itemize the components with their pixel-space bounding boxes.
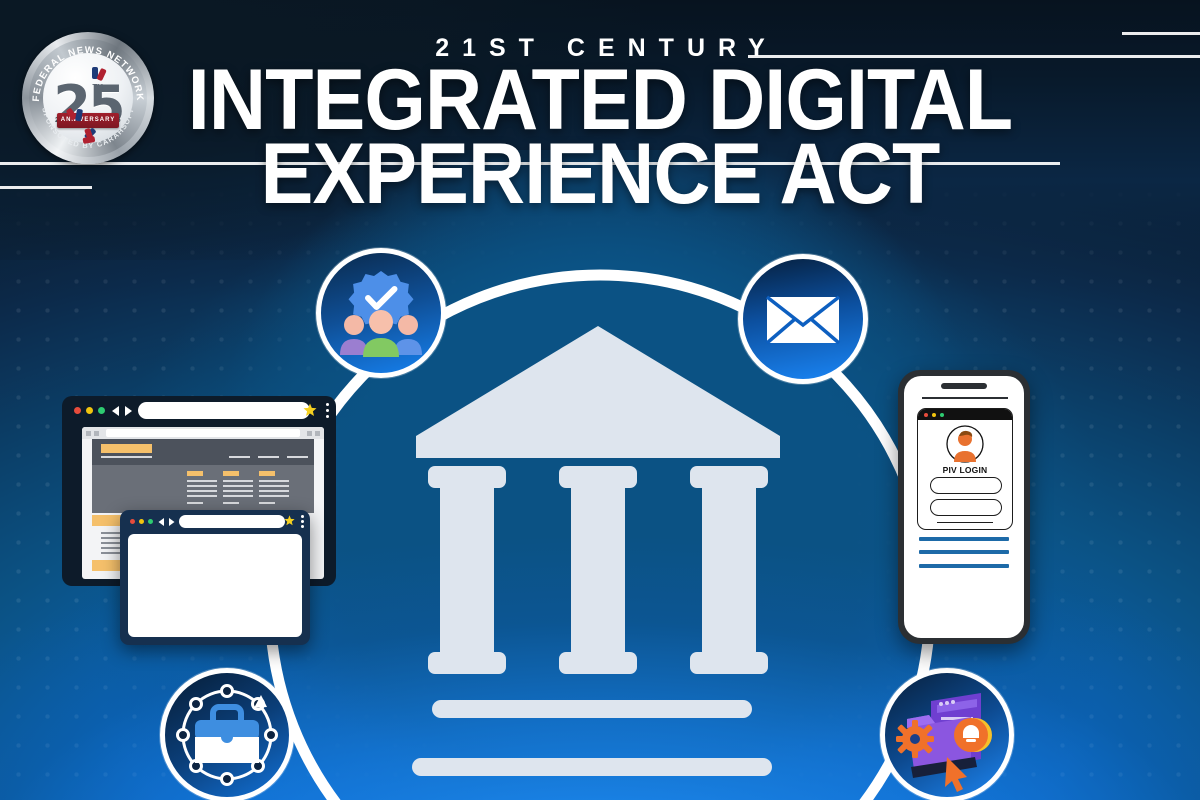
kebab-menu-icon [326,415,329,418]
page-column-heading [223,471,239,476]
badge-dashboard [880,668,1014,800]
page-title: INTEGRATED DIGITAL EXPERIENCE ACT [0,64,1200,212]
star-icon[interactable] [303,403,317,417]
building-base-bar-1 [432,700,752,718]
government-building-icon [408,318,788,768]
page-tagline [101,456,152,458]
page-hero-band [92,465,314,513]
window-close-dot[interactable] [74,407,81,414]
user-avatar-icon [946,425,984,463]
page-text-line [259,485,289,487]
card-maximize-dot[interactable] [940,413,944,417]
page-text-line [259,490,289,492]
page-toolbar-dot [307,431,312,436]
mobile-piv-login-mockup[interactable]: PIV LOGIN [898,370,1030,644]
phone-content-line-2 [919,550,1009,554]
page-text-line [187,490,217,492]
page-text-line [223,495,253,497]
window-close-dot[interactable] [130,519,135,524]
column-shaft-1 [440,480,494,660]
page-text-line [187,480,217,482]
page-text-line [223,502,239,504]
url-bar[interactable] [179,515,285,528]
badge-email [738,254,868,384]
page-nav-item [258,456,279,458]
promo-graphic-canvas: FEDERAL NEWS NETWORK SPONSORED BY CARAHS… [0,0,1200,800]
badge-workforce [160,668,294,800]
kebab-menu-icon [326,409,329,412]
title-line-2: EXPERIENCE ACT [48,138,1152,212]
window-maximize-dot[interactable] [98,407,105,414]
back-arrow-icon[interactable] [157,517,176,527]
page-text-line [187,485,217,487]
star-icon[interactable] [284,515,295,526]
page-toolbar-dot [86,431,91,436]
window-minimize-dot[interactable] [139,519,144,524]
briefcase-network-icon [178,686,277,785]
page-nav-item [287,456,308,458]
page-text-line [223,490,253,492]
secondary-window-viewport [128,534,302,637]
phone-screen: PIV LOGIN [904,376,1024,638]
column-base-3 [690,652,768,674]
verified-users-icon [340,271,422,357]
column-base-2 [559,652,637,674]
phone-content-line-3 [919,564,1009,568]
kebab-menu-icon[interactable] [326,403,329,406]
window-minimize-dot[interactable] [86,407,93,414]
kebab-menu-icon[interactable] [301,515,304,518]
phone-content-line-1 [919,537,1009,541]
page-toolbar-dot [94,431,99,436]
badge-verified-users [316,248,446,378]
phone-divider [922,397,1008,399]
page-text-line [187,495,217,497]
page-text-line [187,502,203,504]
page-text-line [223,480,253,482]
kebab-menu-icon [301,525,304,528]
page-text-line [259,495,289,497]
page-column-heading [187,471,203,476]
window-maximize-dot[interactable] [148,519,153,524]
column-shaft-2 [571,480,625,660]
piv-helper-line-1 [937,522,993,523]
card-close-dot[interactable] [924,413,928,417]
phone-speaker-notch [941,383,987,389]
back-arrow-icon[interactable] [110,405,134,417]
piv-login-label: PIV LOGIN [918,465,1012,475]
building-base-bar-2 [412,758,772,776]
envelope-icon [767,297,839,343]
page-column-heading [259,471,275,476]
card-minimize-dot[interactable] [932,413,936,417]
page-text-line [259,480,289,482]
page-text-line [223,485,253,487]
column-base-1 [428,652,506,674]
piv-field-1[interactable] [930,477,1002,494]
page-logo-block [101,444,152,453]
page-nav-item [229,456,250,458]
kebab-menu-icon [301,520,304,523]
column-shaft-3 [702,480,756,660]
page-url-field [106,429,300,437]
page-text-line [259,502,275,504]
page-toolbar-dot [315,431,320,436]
url-bar[interactable] [138,402,310,419]
piv-field-2[interactable] [930,499,1002,516]
settings-dashboard-icon [896,693,992,792]
secondary-browser-window[interactable] [120,510,310,645]
piv-login-card[interactable]: PIV LOGIN [917,408,1013,530]
